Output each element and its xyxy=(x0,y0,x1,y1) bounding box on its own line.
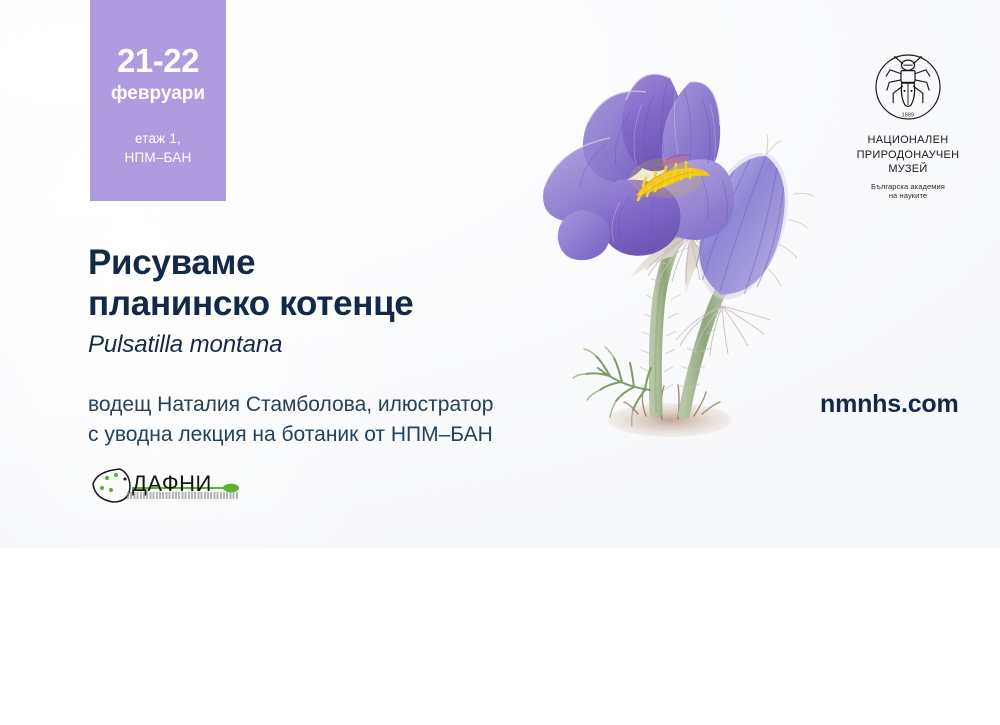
dafni-tagline xyxy=(127,492,239,499)
date-chip: 21-22 февруари етаж 1, НПМ–БАН xyxy=(90,0,226,201)
date-month: февруари xyxy=(111,84,205,103)
svg-text:1889: 1889 xyxy=(902,113,914,119)
venue-line-1: етаж 1, xyxy=(125,129,192,148)
date-days: 21-22 xyxy=(117,44,199,77)
background-sheen xyxy=(0,0,480,725)
dafni-logo[interactable]: ДАФНИ xyxy=(85,457,253,513)
poster-canvas: 21-22 февруари етаж 1, НПМ–БАН Рисуваме … xyxy=(0,0,1000,548)
pulsatilla-illustration: N. Stambolova xyxy=(470,20,890,450)
venue-line-2: НПМ–БАН xyxy=(125,148,192,167)
venue-location: етаж 1, НПМ–БАН xyxy=(125,129,192,167)
